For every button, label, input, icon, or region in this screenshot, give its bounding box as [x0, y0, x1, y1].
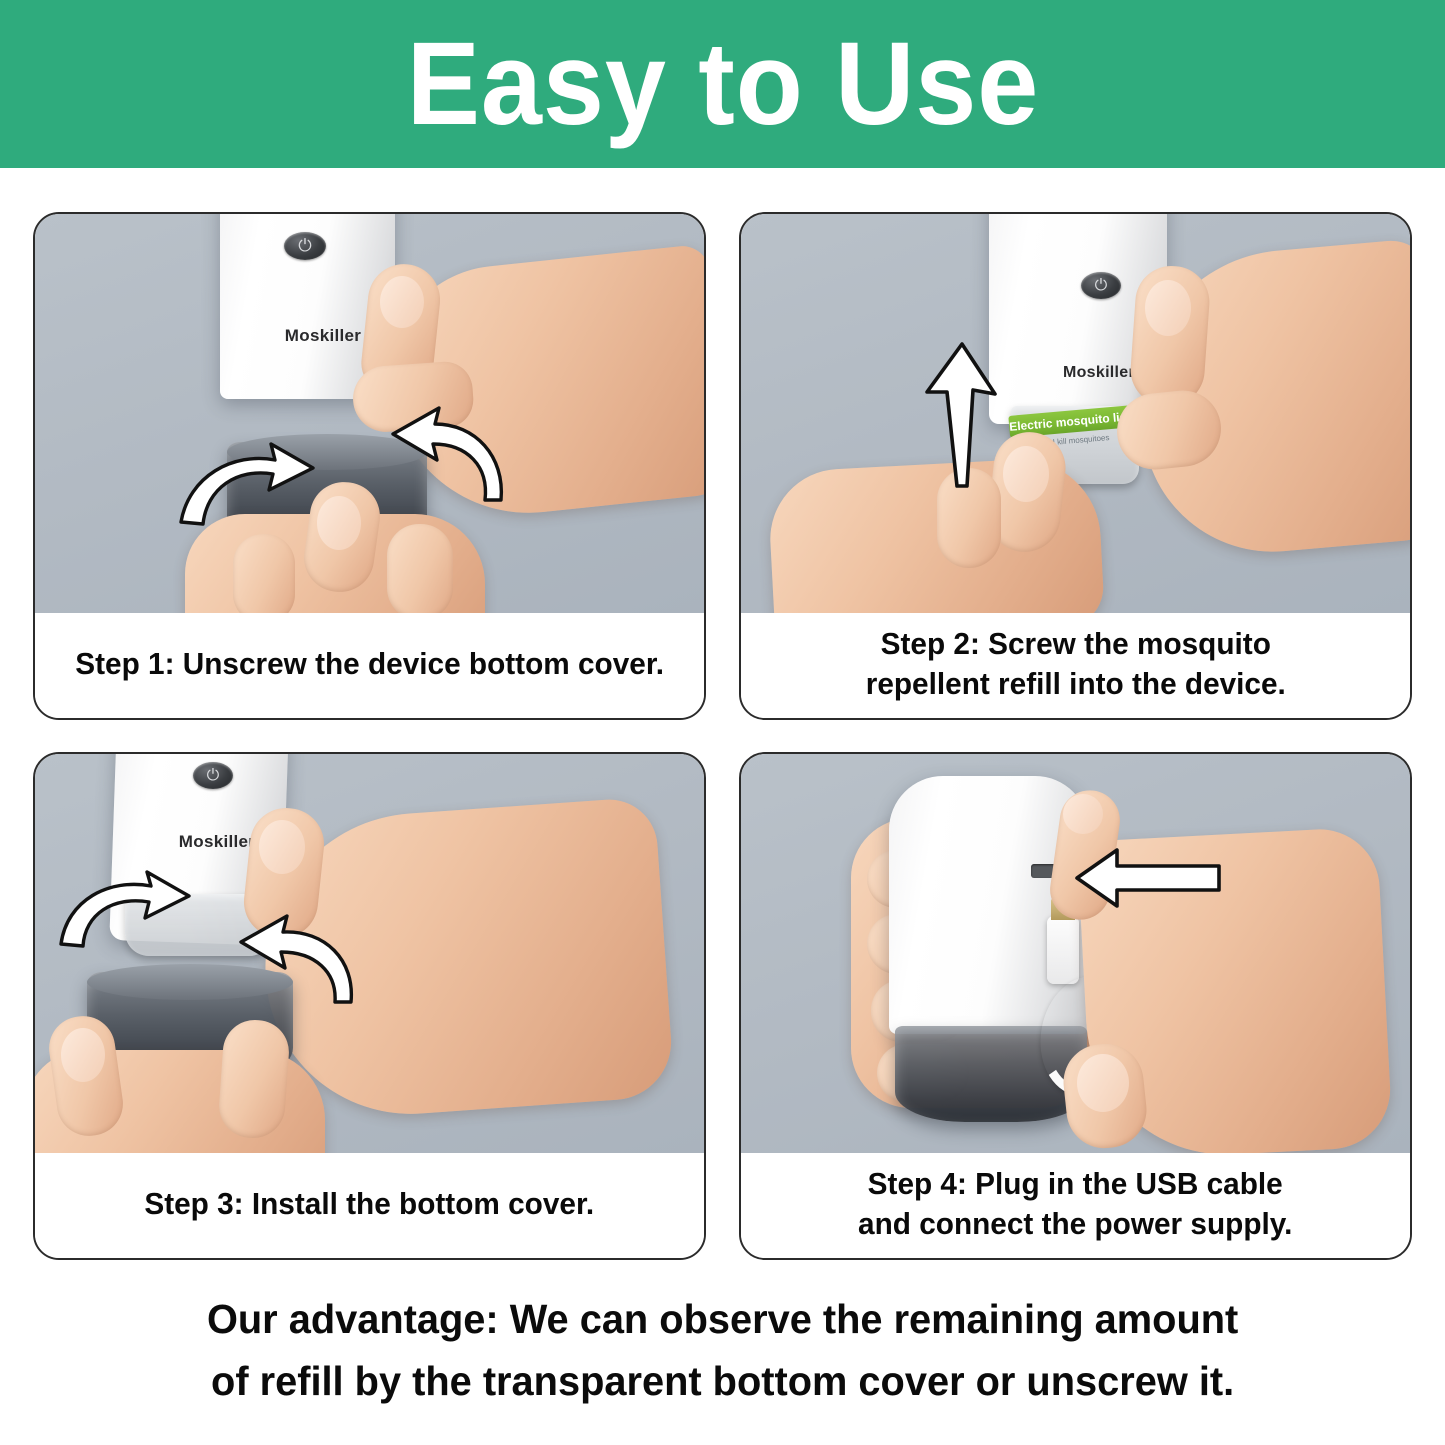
right-hand-thumb-nail: [1063, 794, 1103, 834]
left-hand-finger-2: [387, 524, 453, 613]
step-2-photo: ⏻ Moskiller Electric mosquito liquid to …: [741, 214, 1410, 613]
step-1-caption-text: Step 1: Unscrew the device bottom cover.: [75, 644, 664, 684]
right-hand-thumb-nail: [380, 276, 424, 328]
right-hand-thumb-nail: [1145, 280, 1191, 336]
curved-arrow-left-icon: [323, 404, 523, 514]
left-hand-thumb-nail: [1003, 446, 1049, 502]
step-4-caption-text: Step 4: Plug in the USB cable and connec…: [858, 1164, 1292, 1244]
step-2-caption-text: Step 2: Screw the mosquito repellent ref…: [865, 624, 1285, 704]
step-panel-2: ⏻ Moskiller Electric mosquito liquid to …: [739, 212, 1412, 720]
right-hand-thumb-nail: [259, 820, 305, 874]
steps-grid: ⏻ Moskiller: [33, 212, 1412, 1270]
step-4-photo: [741, 754, 1410, 1153]
usb-plug: [1047, 916, 1079, 984]
left-hand-finger-1: [217, 1018, 291, 1140]
left-arrow-icon: [1073, 846, 1223, 906]
power-icon: ⏻: [193, 762, 233, 789]
curved-arrow-left-icon: [165, 916, 365, 1026]
step-3-photo: ⏻ Moskiller: [35, 754, 704, 1153]
infographic-page: Easy to Use ⏻ Moskiller: [0, 0, 1445, 1445]
step-3-caption: Step 3: Install the bottom cover.: [35, 1153, 704, 1258]
power-icon: ⏻: [1081, 272, 1121, 299]
advantage-text: Our advantage: We can observe the remain…: [207, 1288, 1238, 1412]
step-panel-1: ⏻ Moskiller: [33, 212, 706, 720]
step-2-caption: Step 2: Screw the mosquito repellent ref…: [741, 613, 1410, 718]
step-1-caption: Step 1: Unscrew the device bottom cover.: [35, 613, 704, 718]
step-panel-4: Step 4: Plug in the USB cable and connec…: [739, 752, 1412, 1260]
step-1-photo: ⏻ Moskiller: [35, 214, 704, 613]
left-hand-thumb-nail: [61, 1028, 105, 1082]
step-panel-3: ⏻ Moskiller: [33, 752, 706, 1260]
header-banner: Easy to Use: [0, 0, 1445, 168]
step-3-caption-text: Step 3: Install the bottom cover.: [145, 1184, 595, 1224]
step-4-caption: Step 4: Plug in the USB cable and connec…: [741, 1153, 1410, 1258]
page-title: Easy to Use: [406, 25, 1038, 143]
power-icon: ⏻: [284, 232, 326, 260]
up-arrow-icon: [917, 340, 1007, 490]
right-hand-index-nail: [1077, 1054, 1129, 1112]
footer: Our advantage: We can observe the remain…: [0, 1288, 1445, 1412]
